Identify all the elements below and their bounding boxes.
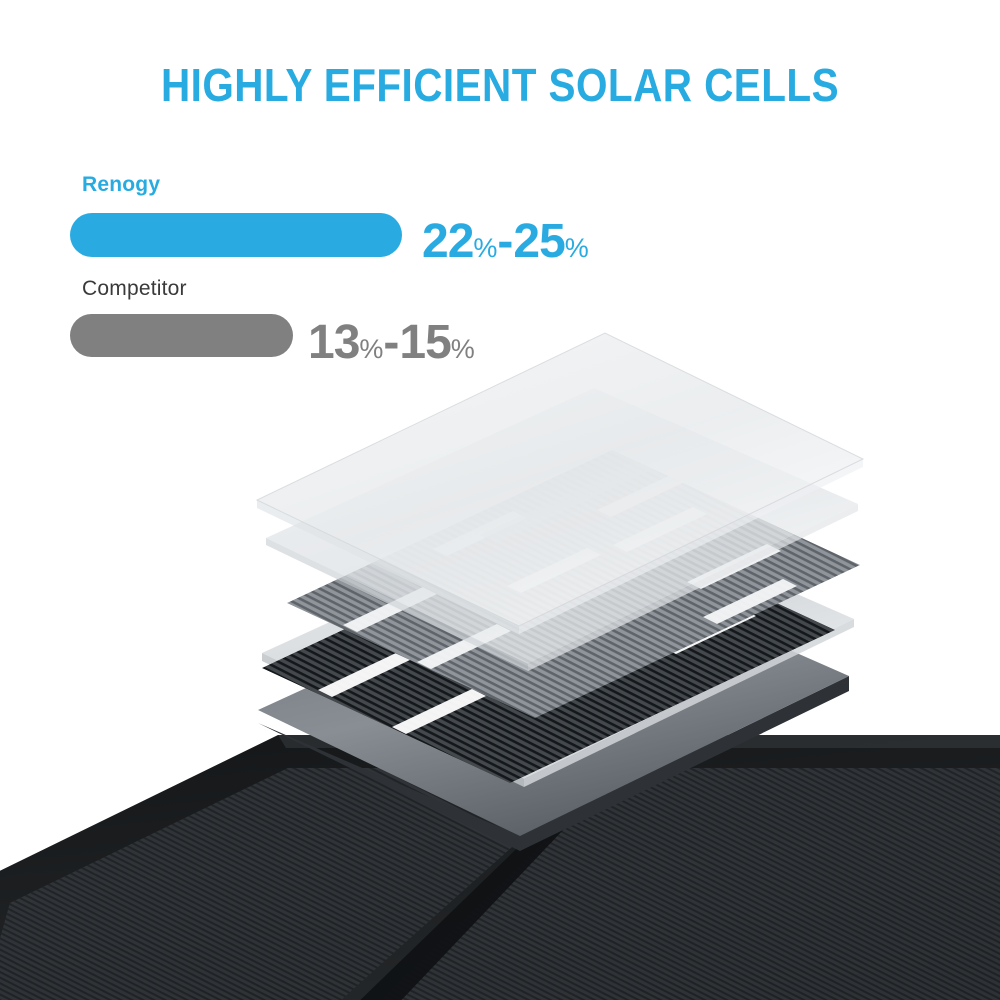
exploded-solar-panel-illustration [0, 0, 1000, 1000]
solar-cell-infographic: HIGHLY EFFICIENT SOLAR CELLS Renogy 22%-… [0, 0, 1000, 1000]
